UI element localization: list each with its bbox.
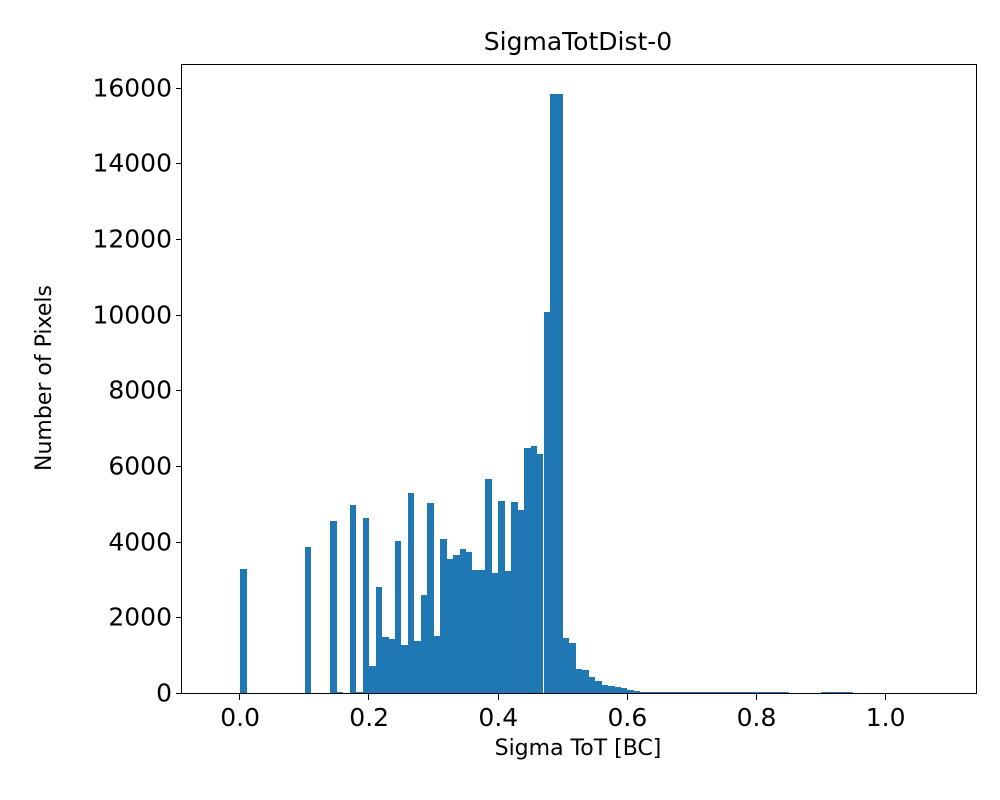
x-tick-mark <box>498 693 499 700</box>
y-tick-mark <box>176 239 183 240</box>
y-tick-label: 10000 <box>92 302 172 327</box>
plot-axes: 0200040006000800010000120001400016000 0.… <box>181 64 977 694</box>
y-tick-mark <box>176 88 183 89</box>
x-axis-label: Sigma ToT [BC] <box>181 736 975 761</box>
y-tick-label: 14000 <box>92 151 172 176</box>
x-tick-mark <box>885 693 886 700</box>
y-tick-mark <box>176 542 183 543</box>
x-tick-mark <box>756 693 757 700</box>
y-tick-mark <box>176 466 183 467</box>
y-tick-mark <box>176 617 183 618</box>
histogram-bar <box>782 692 788 693</box>
histogram-bar <box>337 692 343 693</box>
y-tick-label: 12000 <box>92 227 172 252</box>
chart-title: SigmaTotDist-0 <box>181 27 975 57</box>
histogram-bar <box>330 521 336 694</box>
x-tick-label: 1.0 <box>866 704 906 732</box>
y-tick-mark <box>176 390 183 391</box>
x-tick-label: 0.8 <box>737 704 777 732</box>
y-tick-mark <box>176 163 183 164</box>
histogram-bar <box>556 94 562 693</box>
y-tick-label: 2000 <box>108 605 172 630</box>
histogram-bar <box>240 569 246 693</box>
figure-canvas: SigmaTotDist-0 0200040006000800010000120… <box>0 0 1000 800</box>
histogram-plot-area <box>182 65 976 693</box>
x-tick-mark <box>239 693 240 700</box>
histogram-bar <box>305 547 311 693</box>
y-tick-label: 6000 <box>108 454 172 479</box>
y-tick-label: 0 <box>156 681 172 706</box>
y-tick-label: 8000 <box>108 378 172 403</box>
histogram-bar <box>350 505 356 693</box>
y-axis-label: Number of Pixels <box>32 64 57 692</box>
y-tick-mark <box>176 315 183 316</box>
x-tick-label: 0.2 <box>349 704 389 732</box>
x-tick-label: 0.0 <box>220 704 260 732</box>
x-tick-label: 0.6 <box>608 704 648 732</box>
y-tick-label: 16000 <box>92 75 172 100</box>
histogram-bar <box>847 692 853 693</box>
y-tick-mark <box>176 693 183 694</box>
x-tick-mark <box>627 693 628 700</box>
x-tick-label: 0.4 <box>478 704 518 732</box>
y-tick-label: 4000 <box>108 529 172 554</box>
x-tick-mark <box>368 693 369 700</box>
